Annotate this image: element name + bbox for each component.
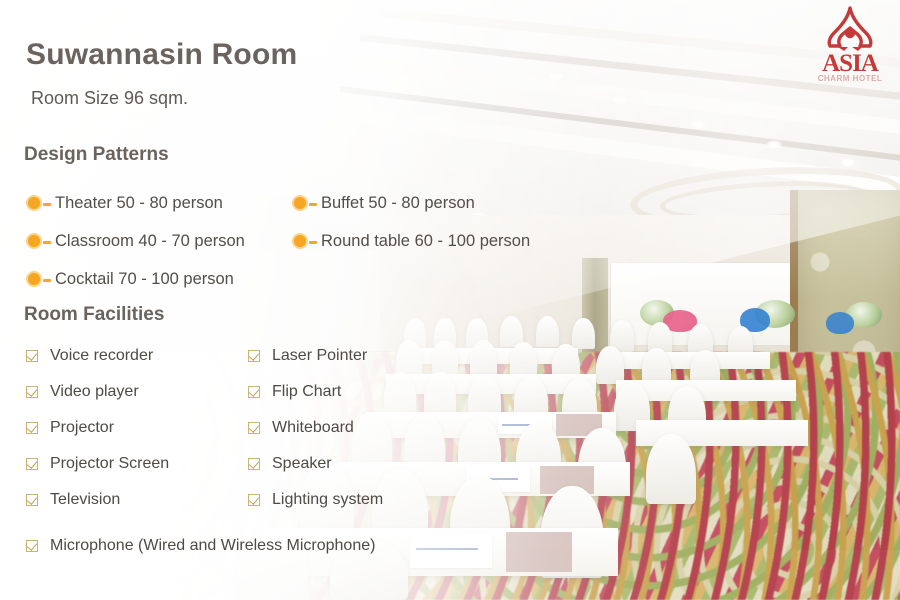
checked-checkbox-icon <box>26 350 38 362</box>
facility-label: Flip Chart <box>272 383 341 401</box>
facility-label: Voice recorder <box>50 347 153 365</box>
design-pattern-label: Theater 50 - 80 person <box>55 194 223 213</box>
asia-hotel-logo: ASIA CHARM HOTEL <box>810 4 890 92</box>
list-item: Laser Pointer <box>248 338 383 374</box>
design-pattern-label: Buffet 50 - 80 person <box>321 194 475 213</box>
room-facilities-heading: Room Facilities <box>24 304 164 326</box>
facility-label: Microphone (Wired and Wireless Microphon… <box>50 537 375 555</box>
facility-label: Lighting system <box>272 491 383 509</box>
list-item: Cocktail 70 - 100 person <box>26 260 245 298</box>
design-pattern-label: Classroom 40 - 70 person <box>55 232 245 251</box>
list-item: Television <box>26 482 169 518</box>
design-patterns-column-1: Theater 50 - 80 person Classroom 40 - 70… <box>26 184 245 298</box>
facility-label: Video player <box>50 383 139 401</box>
list-item: Theater 50 - 80 person <box>26 184 245 222</box>
list-item: Lighting system <box>248 482 383 518</box>
facility-label: Projector <box>50 419 114 437</box>
checked-checkbox-icon <box>248 350 260 362</box>
facility-label: Whiteboard <box>272 419 354 437</box>
room-size-text: Room Size 96 sqm. <box>31 88 188 109</box>
bullet-dot-icon <box>26 195 42 211</box>
list-item: Video player <box>26 374 169 410</box>
room-facilities-column-2: Laser Pointer Flip Chart Whiteboard Spea… <box>248 338 383 518</box>
logo-subtext: CHARM HOTEL <box>810 74 890 83</box>
bullet-dot-icon <box>26 271 42 287</box>
facility-label: Projector Screen <box>50 455 169 473</box>
checked-checkbox-icon <box>26 540 38 552</box>
list-item: Buffet 50 - 80 person <box>292 184 530 222</box>
page-title: Suwannasin Room <box>26 38 297 72</box>
list-item: Classroom 40 - 70 person <box>26 222 245 260</box>
facility-label: Speaker <box>272 455 332 473</box>
checked-checkbox-icon <box>248 422 260 434</box>
list-item: Projector Screen <box>26 446 169 482</box>
checked-checkbox-icon <box>26 494 38 506</box>
checked-checkbox-icon <box>26 422 38 434</box>
list-item: Speaker <box>248 446 383 482</box>
list-item: Whiteboard <box>248 410 383 446</box>
room-facilities-column-1: Voice recorder Video player Projector Pr… <box>26 338 169 518</box>
bullet-dot-icon <box>292 195 308 211</box>
list-item: Projector <box>26 410 169 446</box>
design-pattern-label: Cocktail 70 - 100 person <box>55 270 234 289</box>
checked-checkbox-icon <box>248 494 260 506</box>
checked-checkbox-icon <box>248 386 260 398</box>
design-pattern-label: Round table 60 - 100 person <box>321 232 530 251</box>
checked-checkbox-icon <box>26 458 38 470</box>
room-info-slide: Suwannasin Room Room Size 96 sqm. Design… <box>0 0 900 600</box>
list-item: Microphone (Wired and Wireless Microphon… <box>26 528 375 564</box>
facility-label: Television <box>50 491 120 509</box>
design-patterns-column-2: Buffet 50 - 80 person Round table 60 - 1… <box>292 184 530 260</box>
list-item: Voice recorder <box>26 338 169 374</box>
room-facilities-full-width-row: Microphone (Wired and Wireless Microphon… <box>26 528 375 564</box>
checked-checkbox-icon <box>26 386 38 398</box>
bullet-dot-icon <box>292 233 308 249</box>
design-patterns-heading: Design Patterns <box>24 144 169 166</box>
list-item: Flip Chart <box>248 374 383 410</box>
bullet-dot-icon <box>26 233 42 249</box>
list-item: Round table 60 - 100 person <box>292 222 530 260</box>
facility-label: Laser Pointer <box>272 347 367 365</box>
checked-checkbox-icon <box>248 458 260 470</box>
